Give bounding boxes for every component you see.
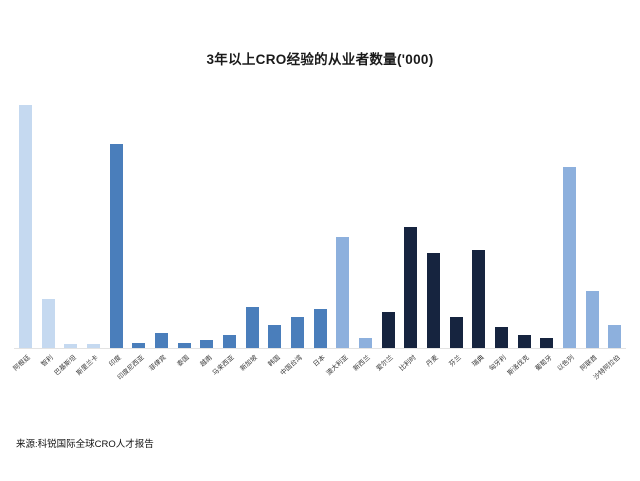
tick-slot: 印度 bbox=[105, 349, 128, 419]
bars-row bbox=[14, 90, 626, 348]
x-axis-tick-label: 比利时 bbox=[396, 352, 417, 373]
bar-slot bbox=[513, 90, 536, 348]
bar[interactable] bbox=[450, 317, 463, 348]
bar[interactable] bbox=[268, 325, 281, 348]
tick-slot: 斯里兰卡 bbox=[82, 349, 105, 419]
bar[interactable] bbox=[540, 338, 553, 348]
bar-slot bbox=[263, 90, 286, 348]
tick-slot: 斯洛伐克 bbox=[513, 349, 536, 419]
x-axis-tick-label: 印度 bbox=[106, 352, 122, 368]
bar-slot bbox=[82, 90, 105, 348]
bar-slot bbox=[150, 90, 173, 348]
bar-slot bbox=[535, 90, 558, 348]
x-axis-tick-label: 丹麦 bbox=[424, 352, 440, 368]
tick-slot: 越南 bbox=[195, 349, 218, 419]
bar-slot bbox=[354, 90, 377, 348]
bar-slot bbox=[309, 90, 332, 348]
bar[interactable] bbox=[336, 237, 349, 348]
x-axis-tick-labels: 阿根廷智利巴基斯坦斯里兰卡印度印度尼西亚菲律宾泰国越南马来西亚新加坡韩国中国台湾… bbox=[14, 349, 626, 419]
bar[interactable] bbox=[110, 144, 123, 348]
bar-slot bbox=[286, 90, 309, 348]
bar-slot bbox=[14, 90, 37, 348]
x-axis-tick-label: 泰国 bbox=[174, 352, 190, 368]
tick-slot: 中国台湾 bbox=[286, 349, 309, 419]
tick-slot: 菲律宾 bbox=[150, 349, 173, 419]
tick-slot: 印度尼西亚 bbox=[127, 349, 150, 419]
x-axis-tick-label: 葡萄牙 bbox=[532, 352, 553, 373]
bar-slot bbox=[127, 90, 150, 348]
tick-slot: 丹麦 bbox=[422, 349, 445, 419]
tick-slot: 泰国 bbox=[173, 349, 196, 419]
x-axis-tick-label: 阿根廷 bbox=[11, 352, 32, 373]
tick-slot: 沙特阿拉伯 bbox=[603, 349, 626, 419]
x-axis-tick-label: 新加坡 bbox=[237, 352, 258, 373]
bar-slot bbox=[581, 90, 604, 348]
bar-slot bbox=[558, 90, 581, 348]
tick-slot: 阿联酋 bbox=[581, 349, 604, 419]
bar-slot bbox=[241, 90, 264, 348]
bar[interactable] bbox=[155, 333, 168, 348]
tick-slot: 新加坡 bbox=[241, 349, 264, 419]
x-axis-tick-label: 越南 bbox=[197, 352, 213, 368]
tick-slot: 澳大利亚 bbox=[331, 349, 354, 419]
plot-area bbox=[14, 90, 626, 348]
bar[interactable] bbox=[200, 340, 213, 348]
bar-slot bbox=[331, 90, 354, 348]
bar[interactable] bbox=[495, 327, 508, 348]
bar[interactable] bbox=[223, 335, 236, 348]
bar-slot bbox=[467, 90, 490, 348]
tick-slot: 瑞典 bbox=[467, 349, 490, 419]
chart-figure: 3年以上CRO经验的从业者数量('000) 阿根廷智利巴基斯坦斯里兰卡印度印度尼… bbox=[0, 0, 640, 481]
bar[interactable] bbox=[608, 325, 621, 348]
bar[interactable] bbox=[314, 309, 327, 348]
tick-slot: 匈牙利 bbox=[490, 349, 513, 419]
bar-slot bbox=[37, 90, 60, 348]
bar[interactable] bbox=[291, 317, 304, 348]
bar-slot bbox=[59, 90, 82, 348]
tick-slot: 芬兰 bbox=[445, 349, 468, 419]
bar-slot bbox=[603, 90, 626, 348]
bar[interactable] bbox=[563, 167, 576, 348]
bar[interactable] bbox=[246, 307, 259, 348]
bar[interactable] bbox=[382, 312, 395, 348]
x-axis-tick-label: 新西兰 bbox=[351, 352, 372, 373]
x-axis-tick-label: 瑞典 bbox=[469, 352, 485, 368]
bar-slot bbox=[422, 90, 445, 348]
x-axis-tick-label: 智利 bbox=[38, 352, 54, 368]
x-axis-tick-label: 芬兰 bbox=[446, 352, 462, 368]
source-note: 来源:科锐国际全球CRO人才报告 bbox=[16, 436, 154, 450]
bar[interactable] bbox=[42, 299, 55, 348]
tick-slot: 日本 bbox=[309, 349, 332, 419]
bar[interactable] bbox=[586, 291, 599, 348]
bar[interactable] bbox=[472, 250, 485, 348]
x-axis-tick-label: 韩国 bbox=[265, 352, 281, 368]
bar-slot bbox=[445, 90, 468, 348]
x-axis-tick-label: 日本 bbox=[310, 352, 326, 368]
x-axis-tick-label: 以色列 bbox=[555, 352, 576, 373]
tick-slot: 爱尔兰 bbox=[377, 349, 400, 419]
chart-title: 3年以上CRO经验的从业者数量('000) bbox=[0, 48, 640, 68]
bar-slot bbox=[377, 90, 400, 348]
bar-slot bbox=[218, 90, 241, 348]
tick-slot: 新西兰 bbox=[354, 349, 377, 419]
tick-slot: 比利时 bbox=[399, 349, 422, 419]
bar[interactable] bbox=[404, 227, 417, 348]
bar-slot bbox=[195, 90, 218, 348]
x-axis-tick-label: 菲律宾 bbox=[147, 352, 168, 373]
tick-slot: 巴基斯坦 bbox=[59, 349, 82, 419]
bar-slot bbox=[105, 90, 128, 348]
tick-slot: 韩国 bbox=[263, 349, 286, 419]
bar[interactable] bbox=[19, 105, 32, 348]
tick-slot: 以色列 bbox=[558, 349, 581, 419]
tick-slot: 阿根廷 bbox=[14, 349, 37, 419]
bar-slot bbox=[173, 90, 196, 348]
tick-slot: 智利 bbox=[37, 349, 60, 419]
bar-slot bbox=[490, 90, 513, 348]
tick-slot: 马来西亚 bbox=[218, 349, 241, 419]
bar[interactable] bbox=[518, 335, 531, 348]
bar-slot bbox=[399, 90, 422, 348]
bar[interactable] bbox=[359, 338, 372, 348]
x-axis-tick-label: 爱尔兰 bbox=[373, 352, 394, 373]
tick-slot: 葡萄牙 bbox=[535, 349, 558, 419]
bar[interactable] bbox=[427, 253, 440, 348]
